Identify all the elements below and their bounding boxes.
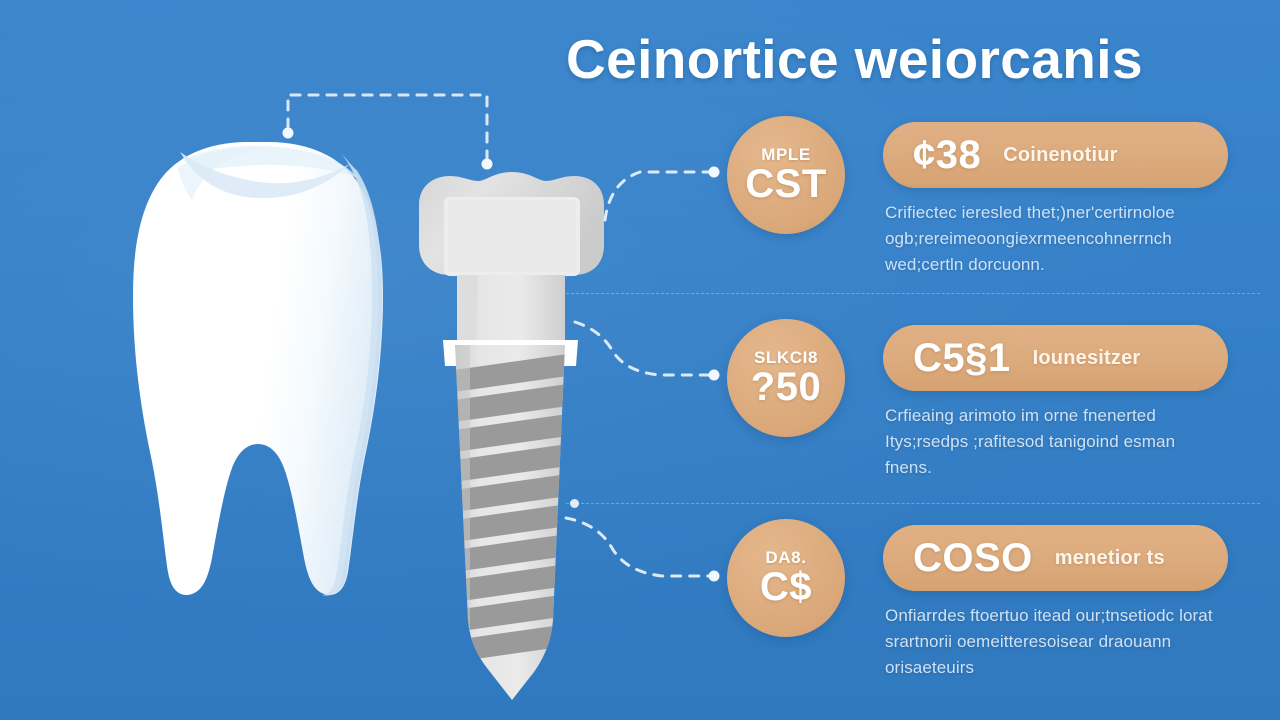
- connector-implant-to-row2: [575, 322, 712, 375]
- connector-dot-row3: [709, 571, 720, 582]
- connector-dot-row2: [709, 370, 720, 381]
- badge-top-label: MPLE: [761, 146, 811, 163]
- connector-dot-tooth: [283, 128, 294, 139]
- stat-pill[interactable]: C5§1 Iounesitzer: [883, 325, 1228, 391]
- row-description: Crifiectec ieresled thet;)ner'certirnolo…: [885, 200, 1215, 277]
- pill-number: C5§1: [913, 338, 1011, 378]
- stat-badge[interactable]: MPLE CST: [727, 116, 845, 234]
- divider-1: [566, 293, 1260, 294]
- stat-badge[interactable]: DA8. C$: [727, 519, 845, 637]
- implant-icon: [419, 172, 604, 700]
- pill-label: Coinenotiur: [1003, 144, 1117, 167]
- tooth-icon: [133, 142, 383, 596]
- badge-top-label: DA8.: [765, 549, 806, 566]
- row-description: Crfieaing arimoto im orne fnenerted Itys…: [885, 403, 1215, 480]
- connector-implant-to-row1: [605, 172, 712, 220]
- infographic-canvas: Ceinortice weiorcanis MPLE CST ¢38 Coine…: [0, 0, 1280, 720]
- stat-badge[interactable]: SLKCI8 ?50: [727, 319, 845, 437]
- stat-pill[interactable]: COSO menetior ts: [883, 525, 1228, 591]
- pill-label: menetior ts: [1055, 547, 1165, 570]
- badge-main-label: CST: [745, 164, 827, 204]
- pill-label: Iounesitzer: [1033, 347, 1141, 370]
- divider-2: [566, 503, 1260, 504]
- connector-dot-implant: [482, 159, 493, 170]
- page-title: Ceinortice weiorcanis: [566, 31, 1256, 89]
- connector-tooth-to-implant: [288, 95, 487, 158]
- connector-implant-to-row3: [566, 518, 712, 576]
- badge-main-label: C$: [760, 567, 812, 607]
- divider-2-dot: [570, 499, 579, 508]
- pill-number: ¢38: [913, 135, 981, 175]
- row-description: Onfiarrdes ftoertuo itead our;tnsetiodc …: [885, 603, 1215, 680]
- pill-number: COSO: [913, 538, 1033, 578]
- stat-pill[interactable]: ¢38 Coinenotiur: [883, 122, 1228, 188]
- badge-top-label: SLKCI8: [754, 349, 818, 366]
- badge-main-label: ?50: [751, 367, 821, 407]
- connector-dot-row1: [709, 167, 720, 178]
